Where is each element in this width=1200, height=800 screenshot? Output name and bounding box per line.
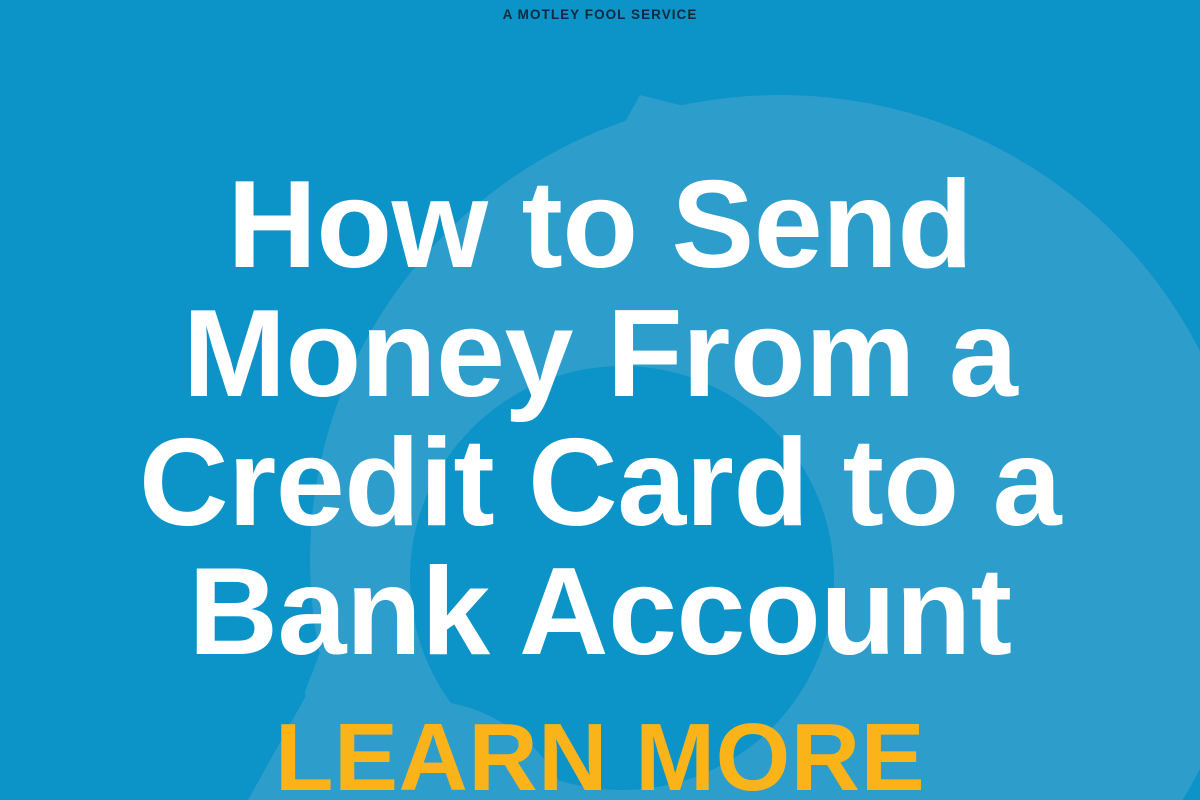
headline-line-3: Credit Card to a xyxy=(0,419,1200,548)
page-title: How to Send Money From a Credit Card to … xyxy=(0,161,1200,677)
headline-line-1: How to Send xyxy=(0,161,1200,290)
eyebrow-bar: A MOTLEY FOOL SERVICE xyxy=(0,0,1200,30)
learn-more-label[interactable]: LEARN MORE xyxy=(275,706,925,800)
service-eyebrow-text: A MOTLEY FOOL SERVICE xyxy=(503,8,698,22)
learn-more-cta[interactable]: LEARN MORE xyxy=(0,706,1200,800)
headline-line-4: Bank Account xyxy=(0,548,1200,677)
headline-line-2: Money From a xyxy=(0,290,1200,419)
promo-poster: A MOTLEY FOOL SERVICE How to Send Money … xyxy=(0,0,1200,800)
